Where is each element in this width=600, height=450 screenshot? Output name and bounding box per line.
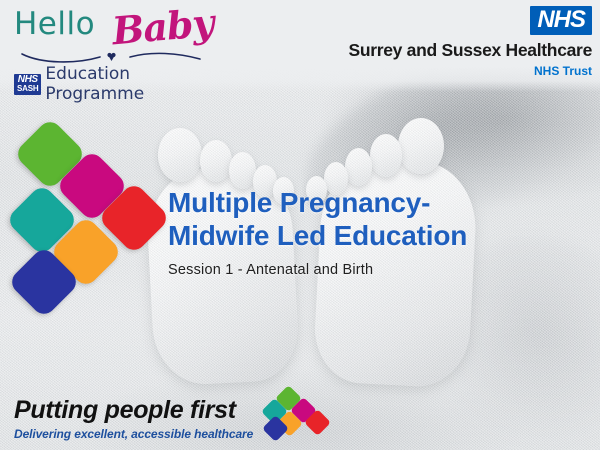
education-programme-label: Education Programme bbox=[45, 64, 218, 104]
slide-title-line-2: Midwife Led Education bbox=[168, 219, 588, 252]
footer-banner: Putting people first Delivering excellen… bbox=[14, 389, 329, 440]
nhs-trust-logo: NHS Surrey and Sussex Healthcare NHS Tru… bbox=[348, 6, 592, 78]
hello-baby-hello-word: Hello bbox=[14, 6, 95, 42]
sash-mini-diamond-logo bbox=[263, 389, 329, 439]
nhs-sash-badge: NHS SASH bbox=[14, 74, 41, 95]
title-block: Multiple Pregnancy- Midwife Led Educatio… bbox=[168, 186, 588, 278]
footer-tagline: Putting people first bbox=[14, 398, 253, 423]
trust-name: Surrey and Sussex Healthcare bbox=[348, 40, 592, 61]
hello-baby-subline: NHS SASH Education Programme bbox=[14, 64, 218, 104]
trust-subtitle: NHS Trust bbox=[348, 64, 592, 78]
sash-diamond-logo bbox=[12, 128, 152, 313]
footer-text-group: Putting people first Delivering excellen… bbox=[14, 398, 253, 440]
footer-strapline: Delivering excellent, accessible healthc… bbox=[14, 428, 253, 440]
slide-title-line-1: Multiple Pregnancy- bbox=[168, 186, 588, 219]
nhs-logo-box: NHS bbox=[530, 6, 592, 35]
nhs-sash-badge-line2: SASH bbox=[17, 85, 38, 93]
nhs-logo-word: NHS bbox=[537, 6, 585, 33]
hello-baby-baby-word: Baby bbox=[110, 0, 215, 53]
slide-subtitle: Session 1 - Antenatal and Birth bbox=[168, 262, 588, 278]
presentation-slide: Hello Baby NHS SASH Education Programme … bbox=[0, 0, 600, 450]
hello-baby-logo: Hello Baby NHS SASH Education Programme bbox=[8, 4, 218, 86]
